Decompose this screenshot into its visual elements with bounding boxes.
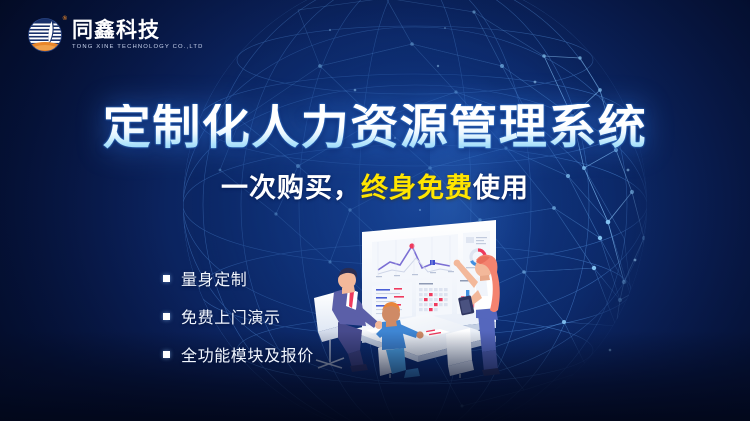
feature-label: 免费上门演示 [181,304,281,328]
feature-label: 量身定制 [181,266,247,290]
line-chart-panel [372,234,458,282]
globe-sail-logo-icon: ® [27,17,63,53]
square-bullet-icon [163,275,170,282]
white-table [348,314,496,362]
list-item: 免费上门演示 [163,304,314,328]
list-item: 量身定制 [163,266,314,290]
logo[interactable]: ® 同鑫科技 TONG XINE TECHNOLOGY CO.,LTD [27,17,175,53]
square-bullet-icon [163,313,170,320]
subtitle-highlight: 终身免费 [361,173,473,203]
registered-mark: ® [63,16,67,22]
vignette-overlay [0,0,750,421]
seated-person-back-view [376,302,424,378]
presentation-board [362,220,496,343]
subtitle: 一次购买，终身免费使用 [0,175,750,202]
subtitle-part-1: 一次购买， [221,173,361,203]
promo-banner: Isometric illustration of a team meeting… [0,0,750,421]
feature-list: 量身定制 免费上门演示 全功能模块及报价 [163,266,314,366]
stat-text-panels [372,282,412,320]
office-chair [314,292,344,368]
feature-label: 全功能模块及报价 [181,342,314,366]
square-bullet-icon [163,351,170,358]
illustration-alt-text: Isometric illustration of a team meeting… [300,218,301,219]
logo-company-name-cn: 同鑫科技 [72,20,160,41]
seated-man-suit [314,268,383,372]
donut-chart-panel [463,231,490,274]
business-meeting-dashboard-illustration: Isometric illustration of a team meeting… [300,218,550,378]
list-item: 全功能模块及报价 [163,342,314,366]
office-chair [446,328,474,378]
bar-chart-panel [457,275,490,314]
subtitle-part-2: 使用 [473,173,529,203]
presenter-woman-red-hair [446,255,500,378]
page-title: 定制化人力资源管理系统 [0,104,750,152]
globe-rim-glow [430,40,660,370]
bottom-fade-overlay [0,331,750,421]
calendar-panel [416,278,452,317]
office-chair [378,342,402,378]
logo-company-name-en: TONG XINE TECHNOLOGY CO.,LTD [72,45,203,51]
